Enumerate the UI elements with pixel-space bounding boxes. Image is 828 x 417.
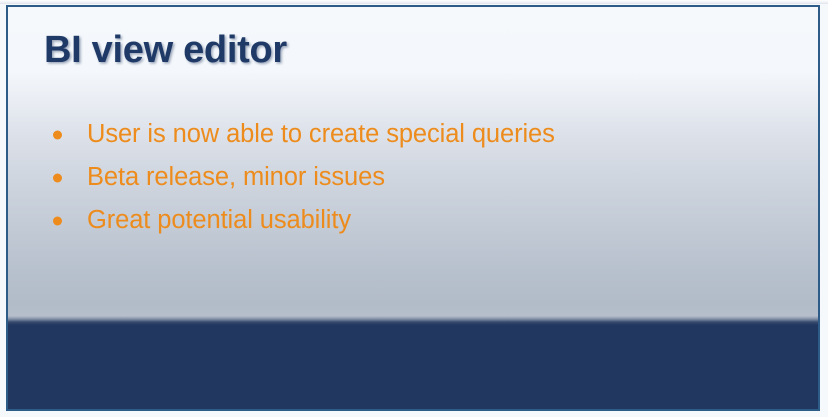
slide-title: BI view editor bbox=[44, 29, 287, 72]
list-item-label: Beta release, minor issues bbox=[87, 163, 385, 192]
list-item: User is now able to create special queri… bbox=[48, 113, 555, 156]
bullet-list: User is now able to create special queri… bbox=[48, 113, 555, 242]
slide-viewport: BI view editor User is now able to creat… bbox=[0, 0, 828, 417]
slide-frame: BI view editor User is now able to creat… bbox=[6, 5, 820, 411]
top-edge-strip bbox=[0, 0, 828, 4]
list-item: Beta release, minor issues bbox=[48, 156, 555, 199]
bullet-dot-icon bbox=[53, 216, 62, 225]
bullet-dot-icon bbox=[53, 130, 62, 139]
footer-band bbox=[8, 314, 818, 409]
list-item-label: Great potential usability bbox=[87, 206, 351, 235]
bullet-dot-icon bbox=[53, 173, 62, 182]
list-item: Great potential usability bbox=[48, 199, 555, 242]
list-item-label: User is now able to create special queri… bbox=[87, 120, 555, 149]
